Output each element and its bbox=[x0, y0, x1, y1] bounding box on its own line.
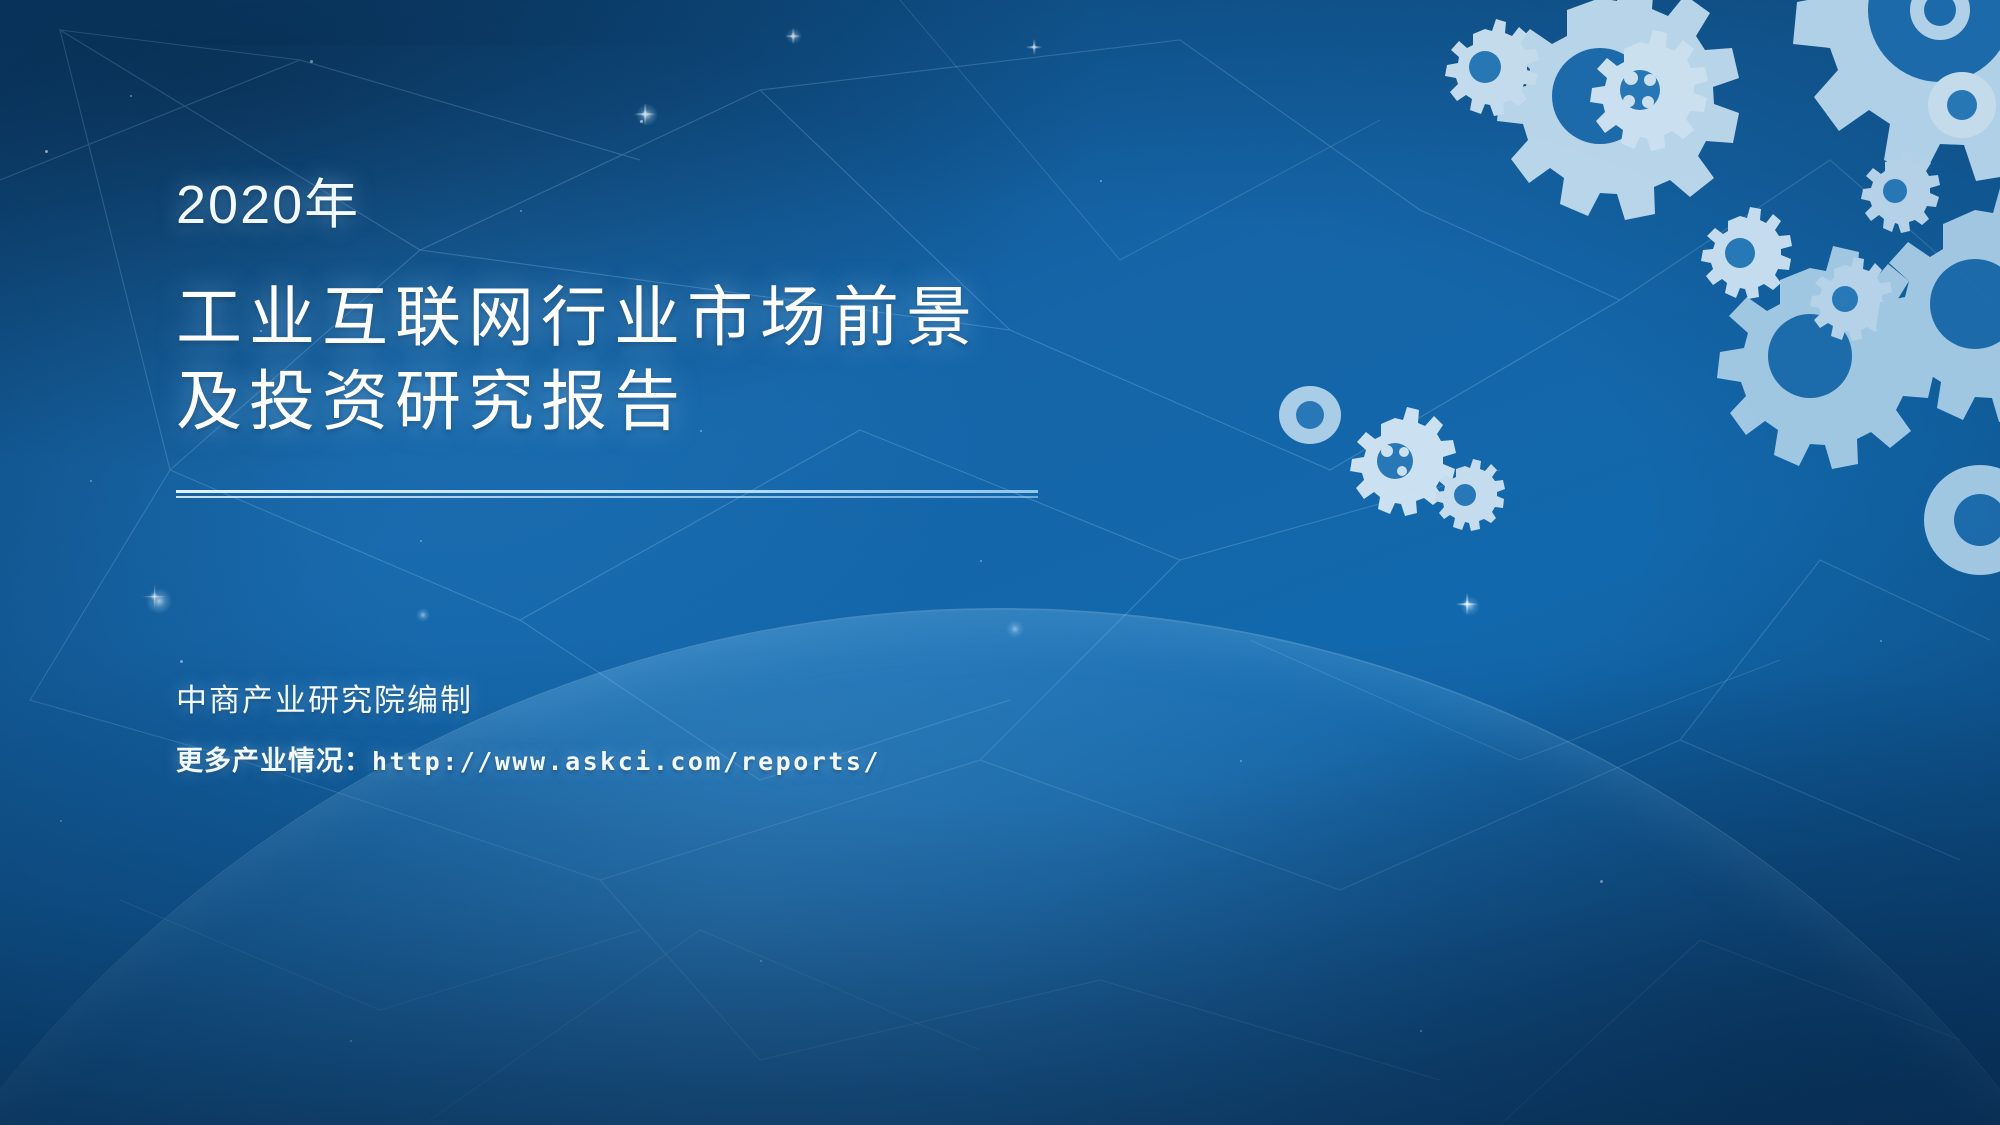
more-info-label: 更多产业情况： bbox=[176, 746, 372, 776]
background-vignette bbox=[0, 0, 2000, 1125]
report-url[interactable]: http://www.askci.com/reports/ bbox=[372, 747, 881, 776]
report-title-line-1: 工业互联网行业市场前景 bbox=[176, 276, 1176, 360]
title-divider bbox=[176, 490, 1038, 499]
more-info-line: 更多产业情况：http://www.askci.com/reports/ bbox=[176, 744, 1176, 779]
footer-block: 中商产业研究院编制 更多产业情况：http://www.askci.com/re… bbox=[176, 680, 1176, 779]
organization-label: 中商产业研究院编制 bbox=[176, 680, 1176, 722]
title-block: 2020年 工业互联网行业市场前景 及投资研究报告 bbox=[176, 178, 1176, 499]
title-slide: 2020年 工业互联网行业市场前景 及投资研究报告 中商产业研究院编制 更多产业… bbox=[0, 0, 2000, 1125]
year-label: 2020年 bbox=[176, 178, 1176, 232]
report-title-line-2: 及投资研究报告 bbox=[176, 360, 1176, 444]
